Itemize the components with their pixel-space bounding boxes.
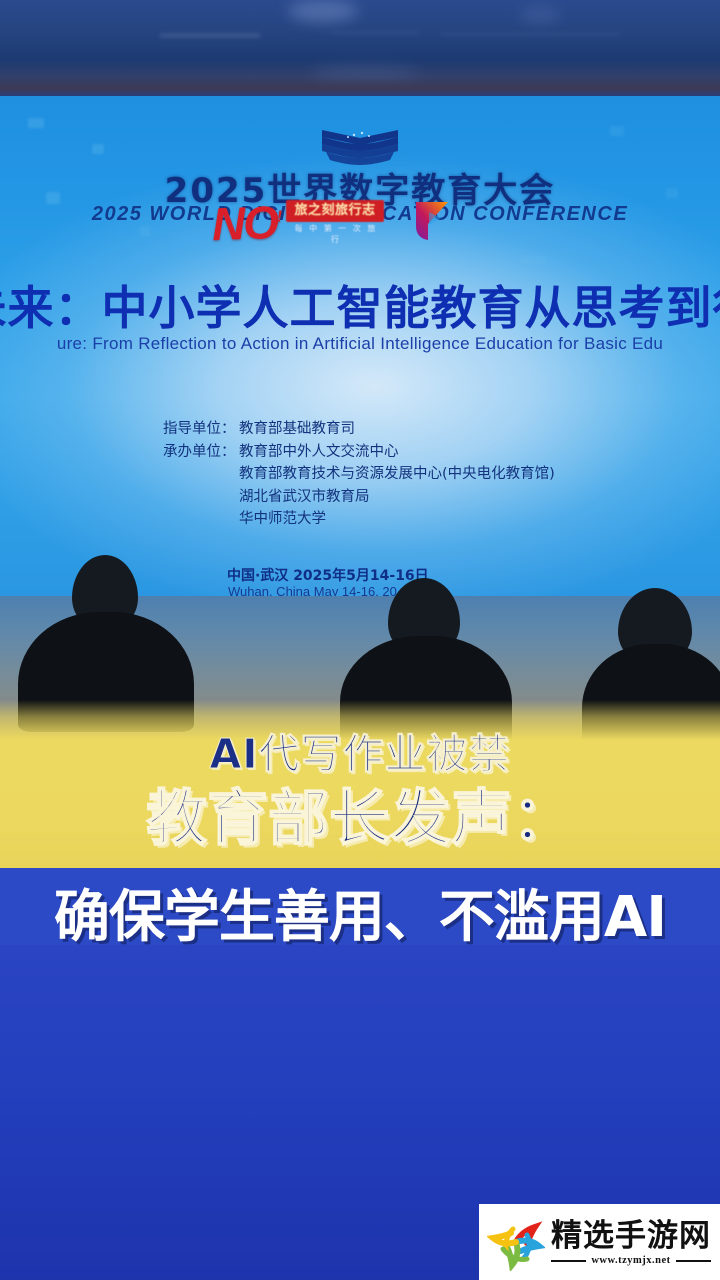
no-logo-watermark: NO! (211, 195, 281, 251)
pinwheel-swirl-logo-icon (487, 1213, 545, 1271)
organizer-host-row: 承办单位：教育部中外人文交流中心 (163, 441, 555, 464)
overlay-red-badge: 旅之刻旅行志 (286, 200, 384, 222)
no-logo-text: NO (211, 196, 278, 250)
play-button-icon (408, 198, 452, 244)
organizer-host-value-2: 湖北省武汉市教育局 (163, 486, 555, 509)
organizer-host-label: 承办单位： (163, 441, 239, 464)
site-watermark-logo: 精选手游网 www.tzymjx.net (479, 1204, 720, 1280)
organizer-guide-row: 指导单位：教育部基础教育司 (163, 418, 555, 441)
site-name: 精选手游网 (551, 1218, 711, 1254)
video-frame: 2025世界数字教育大会 2025 WORLD DIGITAL EDUCATIO… (0, 0, 720, 1280)
session-title-en: ure: From Reflection to Action in Artifi… (0, 334, 720, 354)
overlay-red-badge-text: 旅之刻旅行志 (286, 200, 384, 222)
caption-line-2: 教育部长发声： (0, 770, 720, 857)
caption-line-3: 确保学生善用、不滥用AI (0, 872, 720, 945)
site-url-rule-right (676, 1260, 711, 1262)
ceiling-area (0, 0, 720, 96)
site-url-row: www.tzymjx.net (551, 1255, 711, 1266)
organizer-host-value-0: 教育部中外人文交流中心 (239, 444, 399, 460)
site-url: www.tzymjx.net (586, 1255, 675, 1266)
site-url-rule-left (551, 1260, 586, 1262)
organizer-host-value-3: 华中师范大学 (163, 508, 555, 531)
overlay-red-badge-sub: 每 中 第 一 次 旅 行 (288, 223, 384, 245)
organizer-host-value-1: 教育部教育技术与资源发展中心(中央电化教育馆) (163, 463, 555, 486)
event-place-date-cn: 中国·武汉 2025年5月14-16日 (227, 565, 429, 585)
organizers-block: 指导单位：教育部基础教育司 承办单位：教育部中外人文交流中心 教育部教育技术与资… (163, 418, 555, 531)
session-title-cn: 未来：中小学人工智能教育从思考到行 (0, 272, 720, 338)
organizer-guide-value: 教育部基础教育司 (239, 421, 355, 437)
organizer-guide-label: 指导单位： (163, 418, 239, 441)
site-watermark-text: 精选手游网 www.tzymjx.net (551, 1218, 711, 1266)
no-logo-dot: ! (277, 208, 281, 225)
conference-photo: 2025世界数字教育大会 2025 WORLD DIGITAL EDUCATIO… (0, 0, 720, 945)
